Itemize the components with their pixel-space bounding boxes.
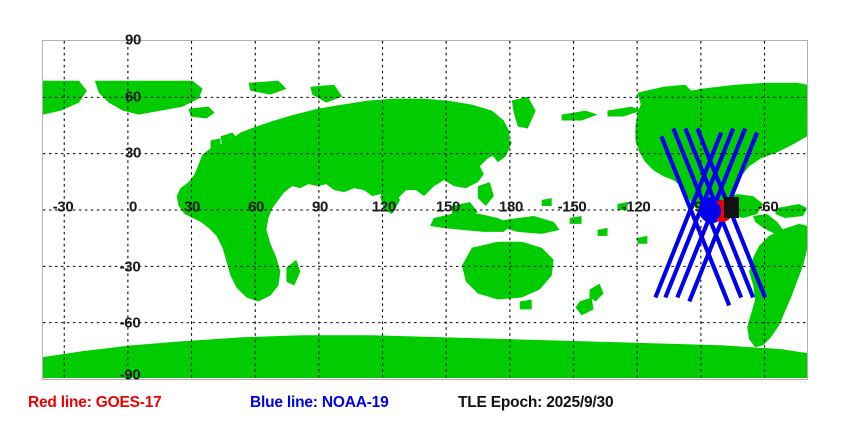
new-guinea-shape: [504, 216, 560, 234]
tasmania-shape: [520, 299, 532, 309]
pacific-island-a: [570, 216, 582, 224]
lat-tick-90: 90: [125, 32, 141, 49]
lat-tick-60: 60: [125, 89, 141, 106]
lat-tick-30: 30: [125, 145, 141, 162]
philippines-shape: [478, 182, 494, 206]
caribbean-shape: [775, 204, 807, 218]
pacific-island-e: [542, 198, 552, 206]
lon-tick-minus30: -30: [53, 199, 74, 216]
aleutian-island-b: [608, 107, 642, 117]
south-america-shape: [747, 224, 807, 347]
pacific-island-b: [598, 228, 608, 236]
legend: Red line: GOES-17 Blue line: NOAA-19 TLE…: [0, 394, 850, 420]
lat-tick-minus30: -30: [120, 259, 141, 276]
australia-shape: [462, 242, 554, 300]
madagascar-shape: [286, 260, 300, 286]
lon-tick-90: 90: [312, 199, 328, 216]
lon-tick-30: 30: [184, 199, 200, 216]
arctic-islands-shape: [248, 81, 286, 95]
legend-tle-epoch: TLE Epoch: 2025/9/30: [458, 394, 613, 412]
lon-tick-minus120: -120: [622, 199, 651, 216]
lon-tick-60: 60: [248, 199, 264, 216]
aleutian-island-a: [562, 111, 598, 121]
legend-goes17: Red line: GOES-17: [28, 394, 162, 412]
new-zealand-south-shape: [576, 297, 594, 315]
pacific-island-c: [637, 236, 647, 244]
kamchatka-shape: [512, 97, 536, 129]
satellite-label-box[interactable]: [724, 197, 739, 218]
lat-tick-minus90: -90: [120, 367, 141, 384]
lat-tick-minus60: -60: [120, 315, 141, 332]
lon-tick-minus150: -150: [558, 199, 587, 216]
antarctica-shape: [43, 335, 807, 378]
lon-tick-180: 180: [499, 199, 523, 216]
novaya-zemlya-shape: [310, 85, 342, 103]
lon-tick-120: 120: [372, 199, 396, 216]
lon-tick-minus60: -60: [758, 199, 779, 216]
lon-tick-0: 0: [129, 199, 137, 216]
iceland-shape: [189, 107, 215, 119]
ireland-shape: [211, 138, 221, 148]
legend-noaa19: Blue line: NOAA-19: [250, 394, 389, 412]
central-america-shape: [753, 214, 783, 234]
lon-tick-150: 150: [436, 199, 460, 216]
satellite-ground-track-map: -30 0 30 60 90 120 150 180 -150 -120 -90…: [0, 0, 850, 425]
